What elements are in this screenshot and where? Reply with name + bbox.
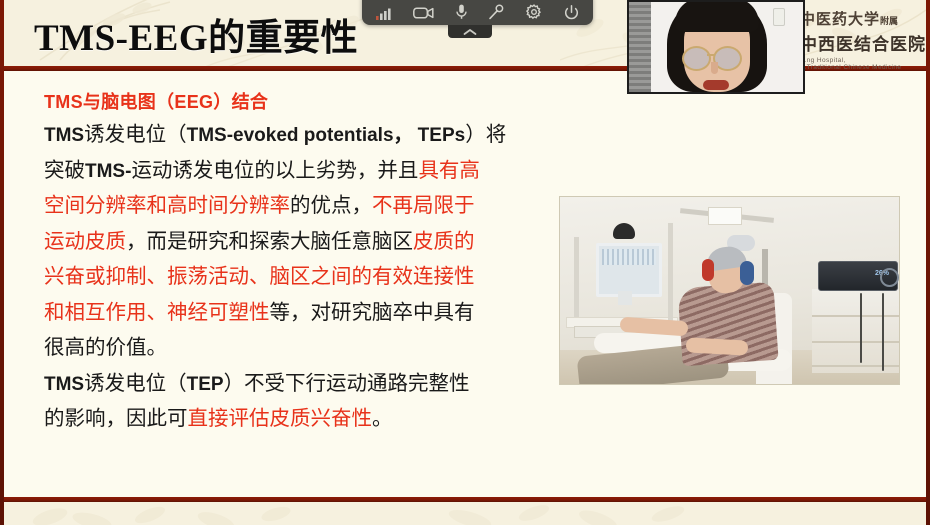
text-run: 。	[372, 408, 393, 430]
photo-cable	[882, 293, 884, 371]
text-run: 空间分辨率和高时间分辨率	[44, 195, 290, 217]
body-line: 的影响，因此可直接评估皮质兴奋性。	[44, 402, 559, 438]
text-run: 和相互作用、神经可塑性	[44, 302, 270, 324]
text-run: TEPs	[418, 125, 466, 146]
text-run: 运动皮质	[44, 231, 126, 253]
photo-coil-arm-post	[668, 223, 673, 333]
text-run: 等，对研究脑卒中具有	[270, 302, 475, 324]
photo-monitor-stand	[618, 291, 632, 305]
webcam-pillar	[629, 2, 651, 92]
slide-right-border	[926, 0, 930, 525]
body-line: TMS诱发电位（TMS-evoked potentials， TEPs）将	[44, 118, 559, 154]
photo-stimulator-knob	[880, 268, 899, 287]
power-leave-icon[interactable]	[564, 4, 579, 20]
logo-line-english-2: ...Traditional Chinese Medicine	[800, 64, 926, 71]
camera-icon[interactable]	[413, 4, 434, 20]
photo-ceiling-camera	[613, 223, 635, 239]
photo-patient-arm	[686, 337, 749, 355]
slide-left-border	[0, 0, 4, 525]
body-line: 兴奋或抑制、振荡活动、脑区之间的有效连接性	[44, 260, 559, 296]
meeting-toolbar[interactable]	[362, 0, 593, 25]
presentation-slide: TMS-EEG的重要性 TMS与脑电图（EEG）结合 TMS诱发电位（TMS-e…	[0, 0, 930, 525]
photo-equipment-label	[708, 207, 742, 225]
text-run: ，而是研究和探索大脑任意脑区	[126, 231, 413, 253]
text-run: 诱发电位（	[84, 124, 187, 146]
text-run: 的影响，因此可	[44, 408, 188, 430]
webcam-person-nose	[711, 62, 718, 74]
photo-tms-stimulator: 26%	[818, 261, 898, 291]
body-line: 和相互作用、神经可塑性等，对研究脑卒中具有	[44, 296, 559, 332]
logo-line-english-1: ...ng Hospital,	[800, 57, 926, 64]
webcam-wall-switch	[773, 8, 785, 26]
floral-ornament-icon	[20, 499, 320, 525]
text-run: ）将	[465, 124, 506, 146]
body-line: TMS诱发电位（TEP）不受下行运动通路完整性	[44, 367, 559, 403]
photo-ear-protector-right	[702, 259, 714, 281]
presenter-webcam-video[interactable]	[627, 0, 805, 94]
text-run: 直接评估皮质兴奋性	[188, 408, 373, 430]
page-title: TMS-EEG的重要性	[34, 16, 358, 62]
footer-divider-rule	[0, 497, 930, 502]
text-run: 不再局限于	[372, 195, 475, 217]
logo-affiliate-text: 附属	[880, 16, 898, 26]
hospital-logo: 中医药大学附属 中西医结合医院 ...ng Hospital, ...Tradi…	[800, 8, 926, 71]
body-line: 很高的价值。	[44, 331, 559, 367]
logo-line-university: 中医药大学附属	[800, 8, 926, 29]
webcam-person-lips	[703, 80, 729, 90]
text-run: TMS-evoked potentials，	[187, 125, 413, 146]
slide-body-text: TMS与脑电图（EEG）结合 TMS诱发电位（TMS-evoked potent…	[44, 86, 559, 438]
body-line: 空间分辨率和高时间分辨率的优点，不再局限于	[44, 189, 559, 225]
text-run: TMS	[44, 125, 84, 146]
text-run: TEP	[187, 374, 224, 395]
body-line: 运动皮质，而是研究和探索大脑任意脑区皮质的	[44, 225, 559, 261]
webcam-person-glasses-bridge	[707, 54, 715, 56]
photo-cable	[860, 293, 862, 363]
body-subheading: TMS与脑电图（EEG）结合	[44, 86, 559, 118]
signal-strength-icon[interactable]	[376, 4, 391, 20]
webcam-person-fringe	[675, 0, 759, 32]
settings-gear-icon[interactable]	[526, 4, 542, 20]
text-run: 具有高	[418, 160, 480, 182]
text-run: 运动诱发电位的以上劣势，并且	[131, 160, 418, 182]
logo-university-text: 中医药大学	[800, 12, 880, 28]
webcam-person-glasses-left	[682, 46, 711, 71]
annotation-tool-icon[interactable]	[488, 4, 504, 20]
microphone-icon[interactable]	[456, 4, 467, 20]
text-run: 突破	[44, 160, 85, 182]
text-run: TMS	[44, 374, 84, 395]
photo-equipment-cart	[812, 289, 900, 373]
logo-line-hospital: 中西医结合医院	[800, 30, 926, 55]
text-run: 很高的价值。	[44, 337, 167, 359]
tms-treatment-photo: 26%	[559, 196, 900, 385]
photo-eeg-monitor	[596, 243, 662, 297]
photo-ear-protector-left	[740, 261, 754, 285]
text-run: 诱发电位（	[84, 373, 187, 395]
body-line: 突破TMS-运动诱发电位的以上劣势，并且具有高	[44, 154, 559, 190]
text-run: TMS-	[85, 161, 131, 182]
text-run: ）不受下行运动通路完整性	[224, 373, 470, 395]
text-run: 兴奋或抑制、振荡活动、脑区之间的有效连接性	[44, 266, 475, 288]
toolbar-collapse-button[interactable]	[448, 25, 492, 38]
text-run: 皮质的	[413, 231, 475, 253]
floral-ornament-icon	[430, 499, 730, 525]
text-run: 的优点，	[290, 195, 372, 217]
chevron-up-icon	[463, 28, 477, 36]
